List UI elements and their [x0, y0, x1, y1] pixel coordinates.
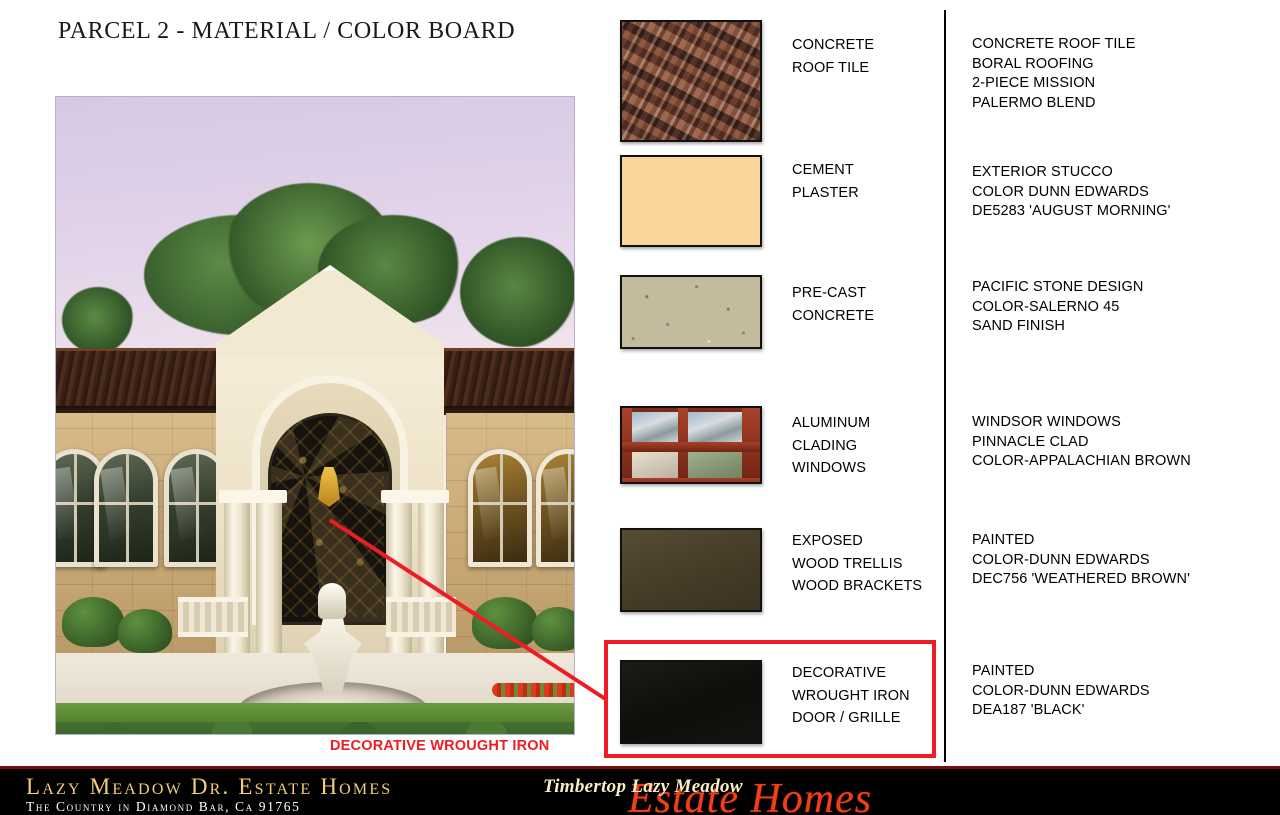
window-frame	[622, 478, 762, 484]
cement-plaster-swatch	[620, 155, 762, 247]
pre-cast-concrete-swatch	[620, 275, 762, 349]
material-label-line: CLADING	[792, 435, 870, 458]
material-spec-line: DEA187 'BLACK'	[972, 701, 1150, 721]
window-frame	[622, 442, 762, 452]
front-hedge	[55, 722, 575, 735]
material-label-line: ALUMINUM	[792, 412, 870, 435]
window-pane	[632, 452, 678, 480]
material-row-aluminum-clad-windows: ALUMINUM CLADING WINDOWS WINDSOR WINDOWS…	[600, 406, 1260, 484]
material-spec-line: PINNACLE CLAD	[972, 433, 1191, 453]
tree-canopy	[460, 237, 575, 347]
material-spec: CONCRETE ROOF TILE BORAL ROOFING 2-PIECE…	[972, 35, 1135, 113]
material-spec-line: PAINTED	[972, 531, 1190, 551]
fountain-statue	[318, 583, 346, 619]
entry-column	[418, 501, 444, 667]
window-pane	[688, 412, 742, 442]
material-spec-line: COLOR-DUNN EDWARDS	[972, 682, 1150, 702]
material-label-line: CONCRETE	[792, 34, 874, 57]
material-spec: EXTERIOR STUCCO COLOR DUNN EDWARDS DE528…	[972, 163, 1171, 222]
material-label-line: PRE-CAST	[792, 282, 874, 305]
wood-trellis-swatch	[620, 528, 762, 612]
arched-window	[94, 449, 158, 567]
material-label-line: CONCRETE	[792, 305, 874, 328]
aluminum-clad-window-swatch	[620, 406, 762, 484]
material-spec-line: PALERMO BLEND	[972, 94, 1135, 114]
project-subtitle: The Country in Diamond Bar, Ca 91765	[26, 799, 300, 815]
material-label-line: WINDOWS	[792, 457, 870, 480]
page-title: PARCEL 2 - MATERIAL / COLOR BOARD	[58, 18, 515, 45]
material-spec-line: BORAL ROOFING	[972, 55, 1135, 75]
material-spec-line: COLOR-SALERNO 45	[972, 298, 1143, 318]
material-label-line: PLASTER	[792, 182, 859, 205]
window-pane	[688, 452, 742, 480]
shrub	[472, 597, 538, 649]
material-spec-line: PACIFIC STONE DESIGN	[972, 278, 1143, 298]
material-label-line: WOOD TRELLIS	[792, 553, 922, 576]
timbertop-script: Timbertop Lazy Meadow	[543, 776, 743, 798]
arched-window	[468, 449, 532, 567]
render-caption: DECORATIVE WROUGHT IRON	[330, 738, 549, 754]
entry-column	[224, 501, 250, 667]
arched-window	[536, 449, 575, 567]
material-spec-line: EXTERIOR STUCCO	[972, 163, 1171, 183]
material-spec: PACIFIC STONE DESIGN COLOR-SALERNO 45 SA…	[972, 278, 1143, 337]
flower-bed	[492, 683, 575, 697]
entry-column	[386, 501, 412, 667]
material-label-line: WOOD BRACKETS	[792, 575, 922, 598]
footer-rule	[0, 766, 1280, 769]
material-label: ALUMINUM CLADING WINDOWS	[792, 412, 870, 480]
material-spec: WINDSOR WINDOWS PINNACLE CLAD COLOR-APPA…	[972, 413, 1191, 472]
material-label: EXPOSED WOOD TRELLIS WOOD BRACKETS	[792, 530, 922, 598]
material-color-board: PARCEL 2 - MATERIAL / COLOR BOARD	[0, 0, 1280, 815]
architectural-rendering	[55, 96, 575, 735]
material-spec-line: COLOR DUNN EDWARDS	[972, 183, 1171, 203]
shrub	[118, 609, 172, 653]
material-label: PRE-CAST CONCRETE	[792, 282, 874, 327]
material-spec-line: SAND FINISH	[972, 317, 1143, 337]
project-title: Lazy Meadow Dr. Estate Homes	[26, 774, 392, 800]
material-label: CEMENT PLASTER	[792, 159, 859, 204]
shrub	[62, 597, 124, 647]
material-spec: PAINTED COLOR-DUNN EDWARDS DEA187 'BLACK…	[972, 662, 1150, 721]
material-label: CONCRETE ROOF TILE	[792, 34, 874, 79]
entry-column	[256, 501, 282, 667]
tree-canopy	[62, 287, 134, 353]
material-spec-line: DEC756 'WEATHERED BROWN'	[972, 570, 1190, 590]
concrete-roof-tile-swatch	[620, 20, 762, 142]
material-spec-line: DE5283 'AUGUST MORNING'	[972, 202, 1171, 222]
material-spec-line: PAINTED	[972, 662, 1150, 682]
material-spec-line: 2-PIECE MISSION	[972, 74, 1135, 94]
window-pane	[632, 412, 678, 442]
material-spec-line: WINDSOR WINDOWS	[972, 413, 1191, 433]
highlight-box-wrought-iron	[604, 640, 936, 758]
material-spec-line: CONCRETE ROOF TILE	[972, 35, 1135, 55]
column-divider	[944, 10, 946, 762]
material-label-line: EXPOSED	[792, 530, 922, 553]
balustrade	[178, 597, 248, 637]
material-spec-line: COLOR-DUNN EDWARDS	[972, 551, 1190, 571]
material-spec-line: COLOR-APPALACHIAN BROWN	[972, 452, 1191, 472]
material-label-line: ROOF TILE	[792, 57, 874, 80]
material-label-line: CEMENT	[792, 159, 859, 182]
balustrade	[386, 597, 456, 637]
material-spec: PAINTED COLOR-DUNN EDWARDS DEC756 'WEATH…	[972, 531, 1190, 590]
shrub	[532, 607, 575, 651]
